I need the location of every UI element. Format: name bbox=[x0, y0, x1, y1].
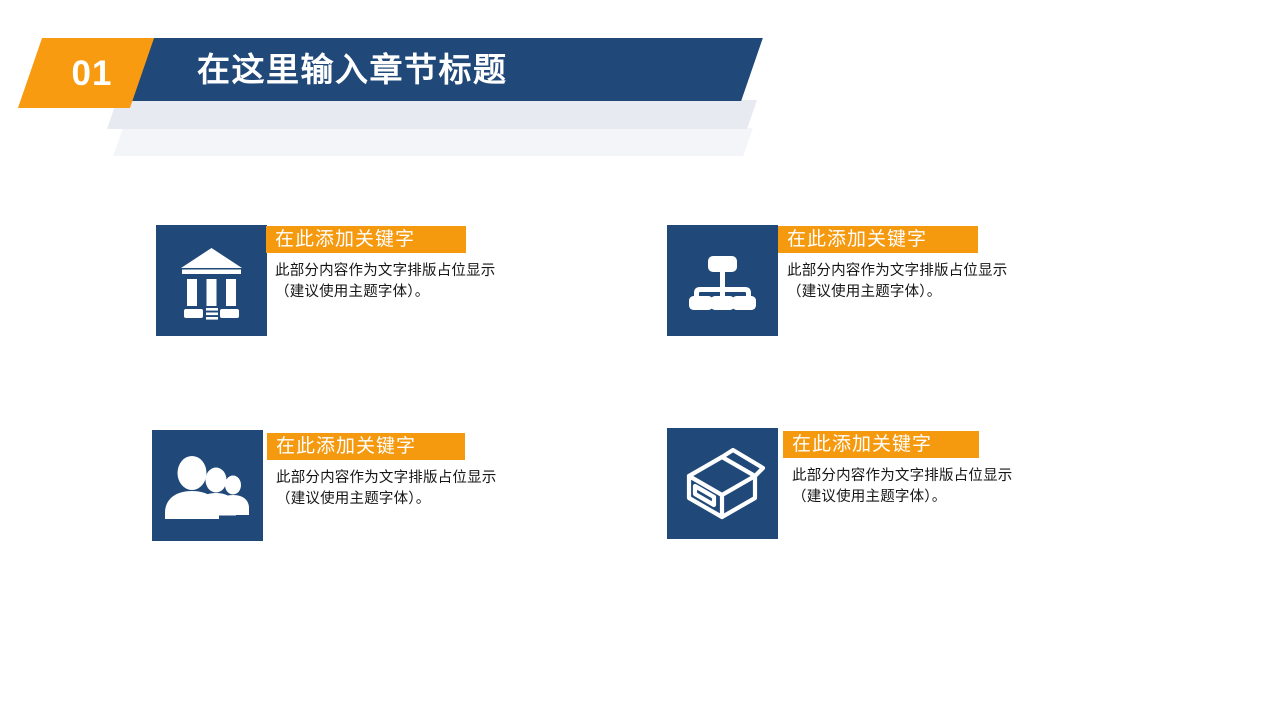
card-2-body-line-2: （建议使用主题字体）。 bbox=[787, 282, 1008, 303]
header-decoration-mid bbox=[107, 100, 757, 129]
card-2-body-line-1: 此部分内容作为文字排版占位显示 bbox=[787, 261, 1008, 282]
card-3-banner: 在此添加关键字 bbox=[267, 433, 465, 460]
card-1-body-line-1: 此部分内容作为文字排版占位显示 bbox=[275, 261, 496, 282]
page-title: 在这里输入章节标题 bbox=[197, 44, 508, 96]
card-2-banner: 在此添加关键字 bbox=[778, 226, 978, 253]
slide-header: 01 在这里输入章节标题 bbox=[0, 0, 1280, 170]
card-1-icon-box bbox=[156, 225, 267, 336]
card-1-banner: 在此添加关键字 bbox=[266, 226, 466, 253]
card-4-body-line-1: 此部分内容作为文字排版占位显示 bbox=[792, 466, 1013, 487]
card-3-body: 此部分内容作为文字排版占位显示 （建议使用主题字体）。 bbox=[276, 468, 497, 510]
header-number-label: 01 bbox=[52, 48, 132, 100]
open-box-icon bbox=[667, 428, 778, 539]
org-chart-icon bbox=[667, 225, 778, 336]
card-3-body-line-2: （建议使用主题字体）。 bbox=[276, 489, 497, 510]
card-3-icon-box bbox=[152, 430, 263, 541]
card-4-icon-box bbox=[667, 428, 778, 539]
people-group-icon bbox=[152, 430, 263, 541]
card-1-body: 此部分内容作为文字排版占位显示 （建议使用主题字体）。 bbox=[275, 261, 496, 303]
card-4-body: 此部分内容作为文字排版占位显示 （建议使用主题字体）。 bbox=[792, 466, 1013, 508]
card-1-body-line-2: （建议使用主题字体）。 bbox=[275, 282, 496, 303]
card-4-banner: 在此添加关键字 bbox=[783, 431, 979, 458]
bank-icon bbox=[156, 225, 267, 336]
card-2-body: 此部分内容作为文字排版占位显示 （建议使用主题字体）。 bbox=[787, 261, 1008, 303]
card-3-body-line-1: 此部分内容作为文字排版占位显示 bbox=[276, 468, 497, 489]
card-2-icon-box bbox=[667, 225, 778, 336]
header-decoration-light bbox=[113, 128, 753, 156]
card-4-body-line-2: （建议使用主题字体）。 bbox=[792, 487, 1013, 508]
